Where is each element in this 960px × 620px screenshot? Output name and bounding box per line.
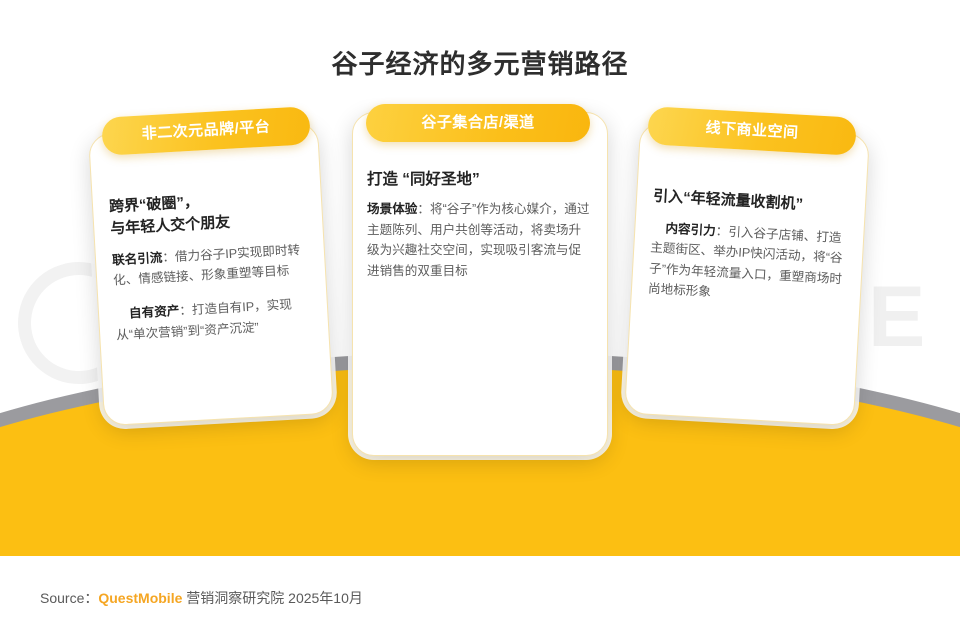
- card-3-paragraph-1: 内容引力：引入谷子店铺、打造主题街区、举办IP快闪活动，将“谷子”作为年轻流量入…: [647, 217, 849, 309]
- card-2-paragraph-1: 场景体验：将“谷子”作为核心媒介，通过主题陈列、用户共创等活动，将卖场升级为兴趣…: [367, 199, 593, 281]
- card-goods-store-channel: 打造 “同好圣地” 场景体验：将“谷子”作为核心媒介，通过主题陈列、用户共创等活…: [352, 112, 608, 456]
- card-3-content: 引入“年轻流量收割机” 内容引力：引入谷子店铺、打造主题街区、举办IP快闪活动，…: [625, 123, 869, 425]
- card-2-lead-1: 场景体验: [367, 202, 417, 216]
- card-3-lead-1: 内容引力: [665, 221, 716, 238]
- card-1-content: 跨界“破圈”， 与年轻人交个朋友 联名引流：借力谷子IP实现即时转化、情感链接、…: [89, 123, 333, 425]
- card-brand-platform: 跨界“破圈”， 与年轻人交个朋友 联名引流：借力谷子IP实现即时转化、情感链接、…: [88, 122, 334, 426]
- card-offline-commercial-space: 引入“年轻流量收割机” 内容引力：引入谷子店铺、打造主题街区、举办IP快闪活动，…: [624, 122, 870, 426]
- card-1-heading: 跨界“破圈”， 与年轻人交个朋友: [109, 185, 311, 240]
- watermark-letter: E: [868, 268, 927, 367]
- card-2-heading: 打造 “同好圣地”: [367, 169, 593, 191]
- slide-canvas: E 谷子经济的多元营销路径 跨界“破圈”， 与年轻人交个朋友 联名引流：借力谷子…: [0, 0, 960, 620]
- card-1-paragraph-2: 自有资产：打造自有IP，实现从“单次营销”到“资产沉淀”: [115, 294, 317, 346]
- source-brand: QuestMobile: [98, 590, 182, 606]
- source-line: Source：QuestMobile 营销洞察研究院 2025年10月: [40, 588, 363, 608]
- page-title: 谷子经济的多元营销路径: [0, 44, 960, 81]
- card-1-paragraph-1: 联名引流：借力谷子IP实现即时转化、情感链接、形象重塑等目标: [112, 239, 314, 291]
- card-3-heading: 引入“年轻流量收割机”: [653, 186, 852, 219]
- source-suffix: 营销洞察研究院 2025年10月: [182, 590, 363, 606]
- card-2-content: 打造 “同好圣地” 场景体验：将“谷子”作为核心媒介，通过主题陈列、用户共创等活…: [353, 113, 607, 455]
- card-1-lead-1: 联名引流: [112, 250, 163, 267]
- source-prefix: Source：: [40, 590, 98, 606]
- pill-goods-store-channel[interactable]: 谷子集合店/渠道: [366, 104, 590, 142]
- card-1-lead-2: 自有资产: [129, 304, 180, 321]
